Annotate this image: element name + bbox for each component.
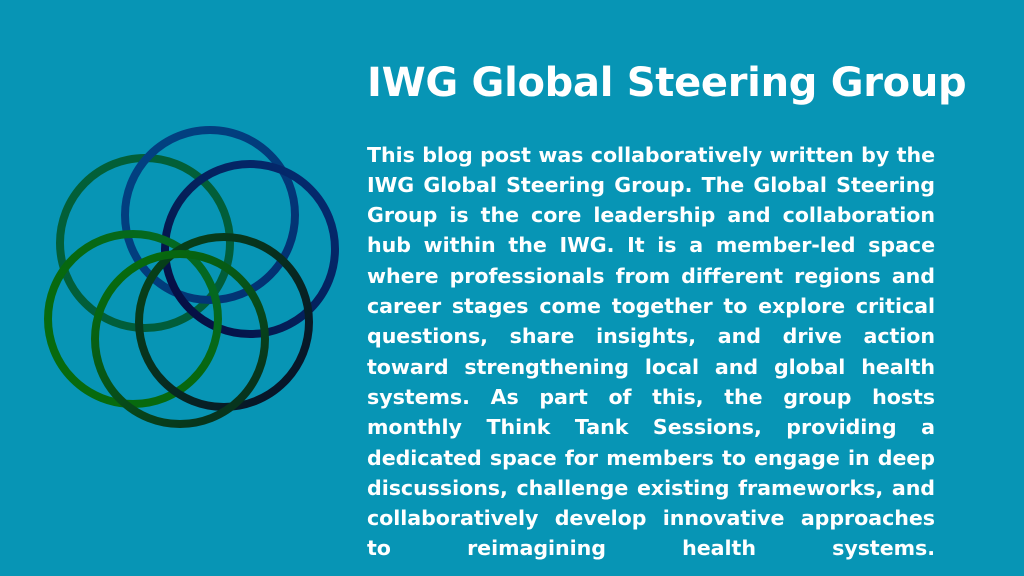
content-column: IWG Global Steering Group This blog post… xyxy=(367,0,935,576)
page-title: IWG Global Steering Group xyxy=(367,59,935,107)
slide-canvas: IWG Global Steering Group This blog post… xyxy=(0,0,1024,576)
iwg-rosette-graphic xyxy=(28,112,358,442)
body-paragraph: This blog post was collaboratively writt… xyxy=(367,140,935,576)
